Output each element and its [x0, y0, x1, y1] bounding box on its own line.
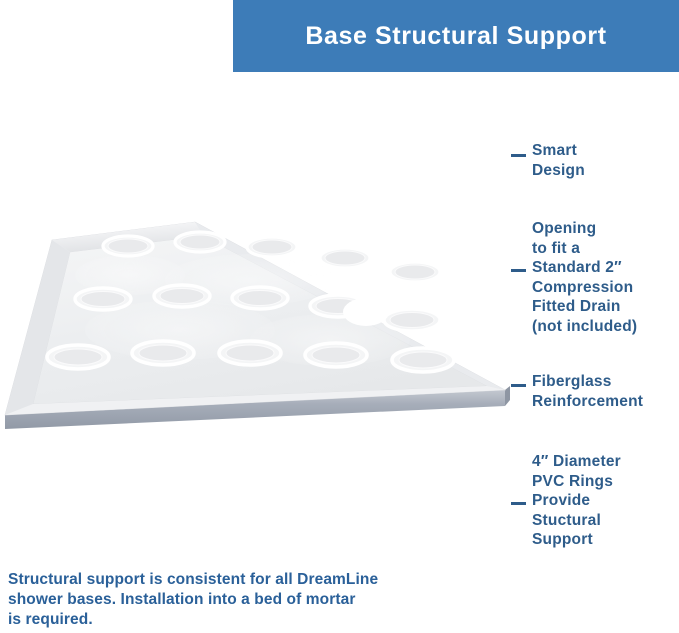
leader-dash-icon — [511, 384, 526, 387]
pvc-ring — [154, 285, 210, 307]
pvc-ring — [232, 287, 288, 309]
leader-dash-icon — [511, 269, 526, 272]
callout-drain-opening: Opening to fit a Standard 2″ Compression… — [511, 219, 637, 336]
pvc-ring — [132, 341, 194, 365]
callout-pvc-rings: 4″ Diameter PVC Rings Provide Stuctural … — [511, 452, 621, 550]
pvc-ring — [175, 232, 225, 252]
pvc-ring — [305, 343, 367, 367]
pvc-ring — [384, 309, 440, 331]
callout-pvc-rings-label: 4″ Diameter PVC Rings Provide Stuctural … — [532, 452, 621, 550]
callout-fiberglass: Fiberglass Reinforcement — [511, 372, 643, 411]
callout-fiberglass-label: Fiberglass Reinforcement — [532, 372, 643, 411]
header-banner: Base Structural Support — [233, 0, 679, 72]
page-title: Base Structural Support — [305, 22, 606, 51]
pvc-ring — [390, 262, 440, 282]
footer-caption: Structural support is consistent for all… — [8, 570, 468, 630]
pvc-ring — [247, 237, 297, 257]
base-right-side-face — [505, 386, 510, 406]
pvc-ring — [219, 341, 281, 365]
leader-dash-icon — [511, 502, 526, 505]
callout-smart-design: Smart Design — [511, 141, 585, 180]
shower-base-illustration — [0, 200, 520, 470]
shower-base-svg — [0, 200, 520, 470]
pvc-ring — [103, 236, 153, 256]
pvc-ring — [392, 348, 454, 372]
callout-drain-opening-label: Opening to fit a Standard 2″ Compression… — [532, 219, 637, 336]
leader-dash-icon — [511, 154, 526, 157]
callout-smart-design-label: Smart Design — [532, 141, 585, 180]
pvc-ring — [75, 288, 131, 310]
pvc-ring — [320, 248, 370, 268]
drain-opening — [343, 298, 389, 326]
pvc-ring — [47, 345, 109, 369]
infographic-canvas: Base Structural Support — [0, 0, 679, 633]
